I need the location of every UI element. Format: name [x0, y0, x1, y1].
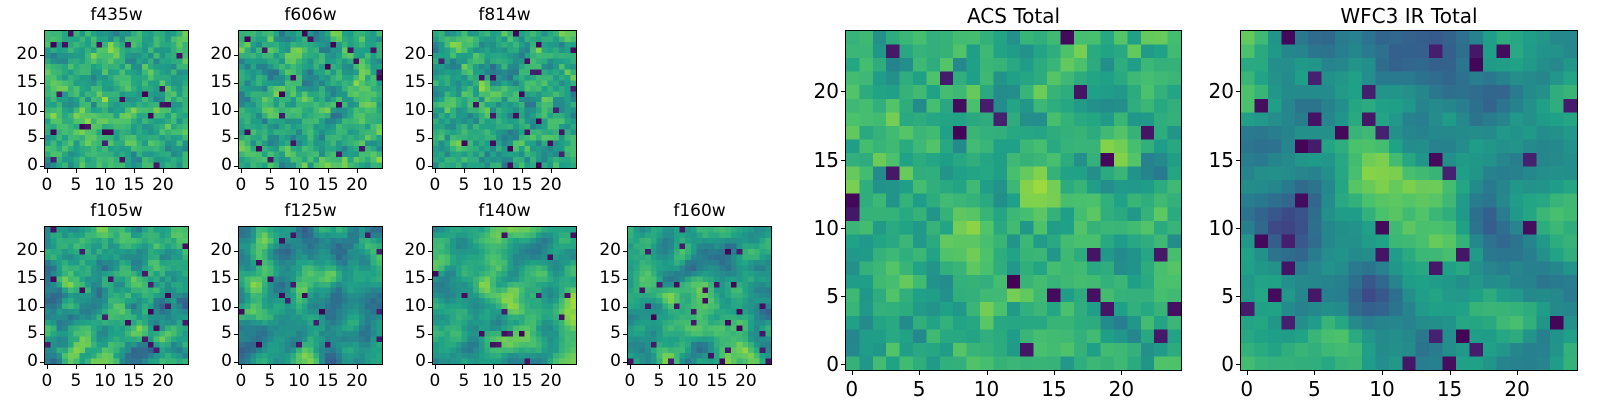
panel-wfc3-ir-total-ytick-mark	[1236, 160, 1240, 161]
panel-wfc3-ir-total-xtick-mark	[1314, 371, 1315, 375]
panel-wfc3-ir-total-ytick-mark	[1236, 91, 1240, 92]
panel-wfc3-ir-total-ytick-mark	[1236, 228, 1240, 229]
panel-wfc3-ir-total-ytick-label: 20	[1174, 79, 1234, 103]
panel-wfc3-ir-total-heatmap	[1241, 31, 1577, 370]
panel-wfc3-ir-total-ytick-label: 0	[1174, 352, 1234, 376]
panel-wfc3-ir-total-xtick-mark	[1247, 371, 1248, 375]
figure-canvas: f435w0510152005101520f606w05101520051015…	[0, 0, 1600, 400]
panel-wfc3-ir-total-ytick-mark	[1236, 296, 1240, 297]
panel-wfc3-ir-total-xtick-mark	[1517, 371, 1518, 375]
panel-wfc3-ir-total-ytick-label: 10	[1174, 216, 1234, 240]
panel-wfc3-ir-total-xtick-mark	[1450, 371, 1451, 375]
panel-wfc3-ir-total-xtick-label: 20	[1487, 377, 1547, 401]
panel-wfc3-ir-total-ytick-label: 5	[1174, 284, 1234, 308]
panel-wfc3-ir-total-xtick-mark	[1382, 371, 1383, 375]
panel-wfc3-ir-total-ytick-mark	[1236, 364, 1240, 365]
panel-wfc3-ir-total-xtick-label: 0	[1217, 377, 1277, 401]
panel-wfc3-ir-total-axes	[1240, 30, 1578, 371]
panel-wfc3-ir-total-xtick-label: 15	[1420, 377, 1480, 401]
panel-wfc3-ir-total-ytick-label: 15	[1174, 148, 1234, 172]
panel-wfc3-ir-total-xtick-label: 5	[1284, 377, 1344, 401]
panel-wfc3-ir-total: WFC3 IR Total0510152005101520	[0, 0, 1600, 400]
panel-wfc3-ir-total-title: WFC3 IR Total	[1240, 3, 1578, 29]
panel-wfc3-ir-total-xtick-label: 10	[1352, 377, 1412, 401]
